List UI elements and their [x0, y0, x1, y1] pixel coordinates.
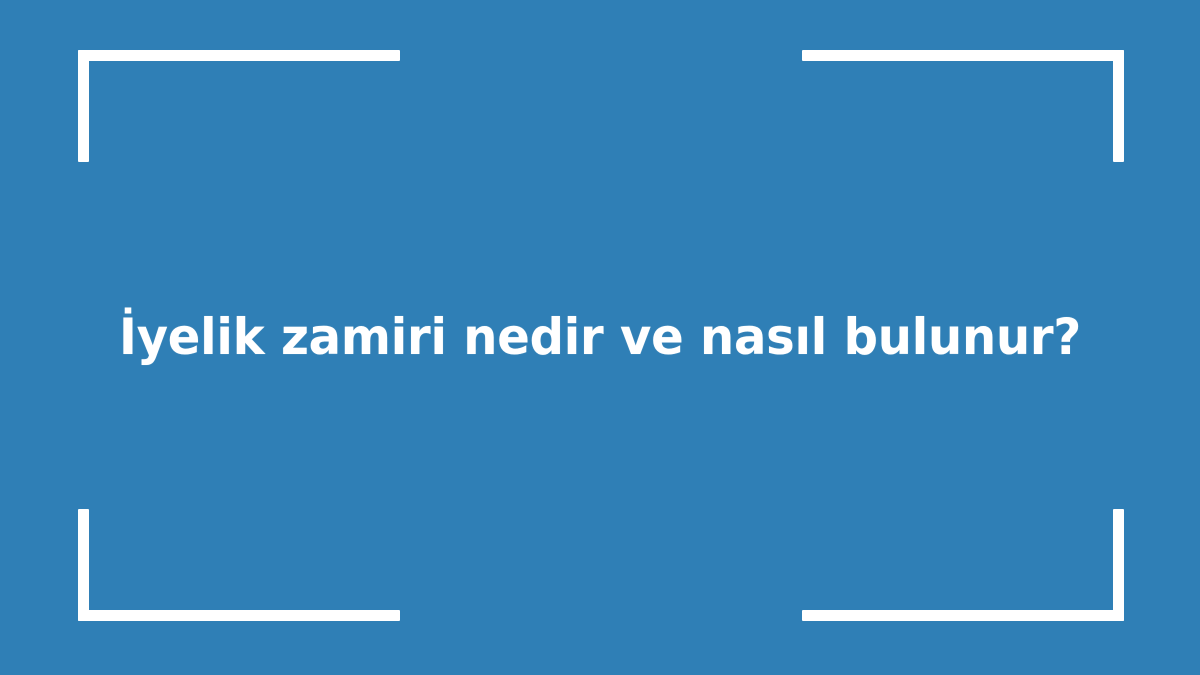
corner-bracket-top-right-icon — [802, 50, 1124, 162]
page-title: İyelik zamiri nedir ve nasıl bulunur? — [81, 310, 1120, 365]
corner-bracket-bottom-left-horizontal-bar — [78, 610, 400, 621]
corner-bracket-top-left-icon — [78, 50, 400, 162]
corner-bracket-bottom-right-icon — [802, 509, 1124, 621]
corner-bracket-top-right-vertical-bar — [1113, 50, 1124, 162]
corner-bracket-bottom-left-vertical-bar — [78, 509, 89, 621]
corner-bracket-bottom-left-icon — [78, 509, 400, 621]
corner-bracket-top-left-vertical-bar — [78, 50, 89, 162]
corner-bracket-top-right-horizontal-bar — [802, 50, 1124, 61]
corner-bracket-bottom-right-vertical-bar — [1113, 509, 1124, 621]
article-title-banner: İyelik zamiri nedir ve nasıl bulunur? — [0, 0, 1200, 675]
corner-bracket-bottom-right-horizontal-bar — [802, 610, 1124, 621]
corner-bracket-top-left-horizontal-bar — [78, 50, 400, 61]
